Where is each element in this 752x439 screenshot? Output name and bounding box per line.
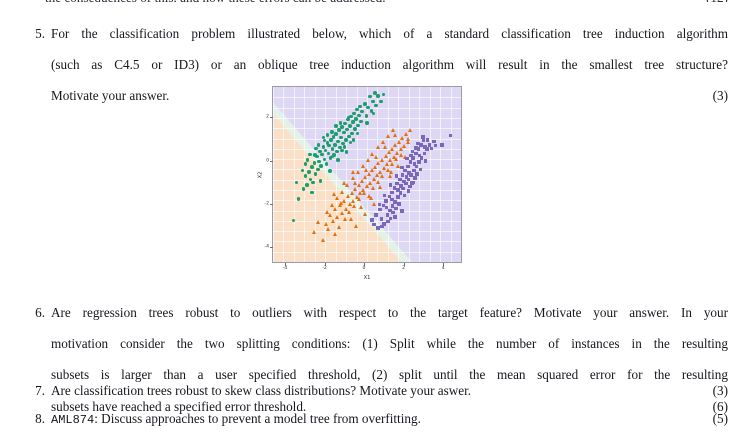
- y-tick-mark: [270, 247, 273, 248]
- data-point-class_a: [325, 162, 329, 166]
- data-point-class_c: [378, 208, 382, 212]
- data-point-class_b: [353, 181, 357, 185]
- data-point-class_c: [416, 142, 420, 146]
- question-8-marks: (5): [713, 411, 728, 427]
- y-tick-label: 2: [259, 115, 269, 120]
- data-point-class_c: [414, 146, 418, 150]
- data-point-class_c: [394, 207, 398, 211]
- data-point-class_c: [400, 209, 404, 213]
- data-point-class_c: [391, 211, 395, 215]
- data-point-class_b: [339, 201, 343, 205]
- y-tick-mark: [270, 204, 273, 205]
- data-point-class_c: [390, 198, 394, 202]
- data-point-class_c: [417, 160, 421, 164]
- data-point-class_c: [426, 138, 430, 142]
- data-point-class_c: [423, 152, 427, 156]
- data-point-class_c: [423, 145, 427, 149]
- gridline-horizontal: [273, 231, 461, 232]
- data-point-class_a: [352, 138, 356, 142]
- data-point-class_b: [354, 224, 358, 228]
- data-point-class_a: [340, 125, 344, 129]
- data-point-class_b: [394, 157, 398, 161]
- data-point-class_b: [368, 181, 372, 185]
- gridline-horizontal: [273, 97, 461, 98]
- gridline-vertical: [419, 87, 420, 262]
- data-point-class_b: [376, 180, 380, 184]
- data-point-class_b: [324, 222, 328, 226]
- data-point-class_b: [384, 154, 388, 158]
- data-point-class_b: [366, 158, 370, 162]
- data-point-class_a: [310, 165, 314, 169]
- data-point-class_a: [314, 172, 318, 176]
- gridline-horizontal: [273, 180, 461, 181]
- data-point-class_a: [311, 181, 315, 185]
- data-point-class_a: [354, 117, 358, 121]
- gridline-horizontal: [273, 211, 461, 212]
- x-tick-label: -4: [283, 266, 288, 271]
- question-8-number: 8.: [27, 411, 45, 427]
- data-point-class_b: [360, 179, 364, 183]
- gridline-vertical: [430, 87, 431, 262]
- gridline-horizontal: [273, 241, 461, 242]
- data-point-class_b: [400, 136, 404, 140]
- data-point-class_a: [304, 174, 308, 178]
- data-point-class_b: [376, 145, 380, 149]
- data-point-class_b: [328, 213, 332, 217]
- data-point-class_b: [393, 143, 397, 147]
- data-point-class_a: [306, 158, 310, 162]
- data-point-class_a: [330, 130, 334, 134]
- data-point-class_b: [383, 145, 387, 149]
- data-point-class_b: [333, 207, 337, 211]
- plot-area: [272, 86, 462, 263]
- data-point-class_b: [357, 197, 361, 201]
- data-point-class_c: [408, 185, 412, 189]
- data-point-class_a: [348, 124, 352, 128]
- data-point-class_b: [364, 168, 368, 172]
- question-8: 8. (5)AML874: Discuss approaches to prev…: [27, 411, 728, 429]
- data-point-class_c: [419, 168, 423, 172]
- data-point-class_b: [352, 204, 356, 208]
- data-point-class_a: [357, 114, 361, 118]
- data-point-class_c: [402, 180, 406, 184]
- question-5-marks: (3): [713, 88, 728, 104]
- gridline-horizontal: [273, 221, 461, 222]
- data-point-class_b: [365, 184, 369, 188]
- gridline-vertical: [294, 87, 295, 262]
- data-point-class_c: [396, 188, 400, 192]
- data-point-class_b: [340, 211, 344, 215]
- data-point-class_b: [380, 158, 384, 162]
- data-point-class_a: [356, 124, 360, 128]
- data-point-class_c: [384, 199, 388, 203]
- question-7-line-1-wrap: (3)Are classification trees robust to sk…: [51, 383, 728, 399]
- classification-scatter-figure: -4-202420-2-4 X1 X2: [250, 80, 475, 280]
- data-point-class_a: [317, 160, 321, 164]
- data-point-class_b: [370, 168, 374, 172]
- data-point-class_a: [314, 147, 318, 151]
- data-point-class_b: [374, 155, 378, 159]
- data-point-class_b: [393, 133, 397, 137]
- data-point-class_a: [319, 164, 323, 168]
- data-point-class_a: [316, 168, 320, 172]
- data-point-class_c: [389, 217, 393, 221]
- data-point-class_c: [407, 171, 411, 175]
- data-point-class_b: [397, 140, 401, 144]
- data-point-class_b: [385, 162, 389, 166]
- data-point-class_c: [374, 213, 378, 217]
- data-point-class_b: [387, 150, 391, 154]
- data-point-class_b: [330, 203, 334, 207]
- data-point-class_b: [345, 183, 349, 187]
- data-point-class_c: [418, 154, 422, 158]
- data-point-class_b: [331, 219, 335, 223]
- data-point-class_a: [379, 100, 383, 104]
- question-5-line-3: Motivate your answer.: [51, 88, 169, 103]
- gridline-horizontal: [273, 128, 461, 129]
- exam-page: (12) the consequences of this, and how t…: [0, 0, 752, 439]
- data-point-class_b: [402, 144, 406, 148]
- question-8-line-1-wrap: (5)AML874: Discuss approaches to prevent…: [51, 411, 728, 429]
- data-point-class_a: [336, 140, 340, 144]
- question-8-line-1: : Discuss approaches to prevent a model …: [94, 411, 421, 426]
- data-point-class_a: [317, 143, 321, 147]
- data-point-class_b: [353, 187, 357, 191]
- data-point-class_a: [359, 120, 363, 124]
- data-point-class_a: [345, 150, 349, 154]
- question-5-line-1: For the classification problem illustrat…: [51, 26, 728, 57]
- data-point-class_b: [351, 170, 355, 174]
- data-point-class_b: [342, 181, 346, 185]
- gridline-horizontal: [273, 252, 461, 253]
- data-point-class_c: [380, 217, 384, 221]
- data-point-class_c: [399, 184, 403, 188]
- data-point-class_a: [308, 153, 312, 157]
- data-point-class_c: [385, 206, 389, 210]
- question-7: 7. (3)Are classification trees robust to…: [27, 383, 728, 399]
- data-point-class_a: [334, 124, 338, 128]
- y-axis-label: X2: [257, 172, 263, 179]
- data-point-class_a: [333, 143, 337, 147]
- question-6-number: 6.: [27, 305, 45, 321]
- gridline-vertical: [398, 87, 399, 262]
- data-point-class_b: [342, 199, 346, 203]
- data-point-class_b: [389, 170, 393, 174]
- data-point-class_a: [374, 104, 378, 108]
- data-point-class_b: [381, 140, 385, 144]
- data-point-class_c: [403, 194, 407, 198]
- x-tick-label: -2: [322, 266, 327, 271]
- data-point-class_a: [331, 147, 335, 151]
- gridline-horizontal: [273, 118, 461, 119]
- data-point-class_b: [340, 190, 344, 194]
- cut-off-text: the consequences of this, and how these …: [45, 0, 386, 2]
- y-tick-label: 0: [259, 158, 269, 163]
- question-7-line-1: Are classification trees robust to skew …: [51, 383, 471, 398]
- data-point-class_b: [362, 191, 366, 195]
- data-point-class_c: [409, 154, 413, 158]
- data-point-class_b: [346, 194, 350, 198]
- data-point-class_a: [305, 183, 309, 187]
- gridline-vertical: [440, 87, 441, 262]
- data-point-class_c: [390, 191, 394, 195]
- data-point-class_c: [411, 181, 415, 185]
- question-5-number: 5.: [27, 26, 45, 42]
- data-point-class_a: [319, 179, 323, 183]
- data-point-class_b: [359, 205, 363, 209]
- x-axis-label: X1: [364, 275, 371, 281]
- data-point-class_b: [335, 215, 339, 219]
- gridline-horizontal: [273, 200, 461, 201]
- data-point-class_c: [393, 215, 397, 219]
- data-point-class_c: [380, 225, 384, 229]
- question-8-course-code: AML874: [51, 413, 94, 427]
- data-point-class_b: [391, 128, 395, 132]
- data-point-class_b: [349, 217, 353, 221]
- data-point-class_b: [321, 238, 325, 242]
- data-point-class_c: [411, 150, 415, 154]
- data-point-class_b: [326, 227, 330, 231]
- gridline-vertical: [451, 87, 452, 262]
- data-point-class_b: [357, 183, 361, 187]
- gridline-vertical: [346, 87, 347, 262]
- gridline-vertical: [283, 87, 284, 262]
- gridline-vertical: [273, 87, 274, 262]
- gridline-horizontal: [273, 262, 461, 263]
- data-point-class_a: [328, 169, 332, 173]
- data-point-class_b: [390, 147, 394, 151]
- data-point-class_b: [351, 176, 355, 180]
- data-point-class_a: [343, 145, 347, 149]
- data-point-class_b: [372, 202, 376, 206]
- data-point-class_c: [397, 202, 401, 206]
- data-point-class_b: [347, 210, 351, 214]
- cut-off-previous-question-line: (12) the consequences of this, and how t…: [45, 0, 728, 2]
- data-point-class_c: [400, 166, 404, 170]
- data-point-class_a: [350, 132, 354, 136]
- data-point-class_a: [353, 127, 357, 131]
- data-point-class_a: [334, 132, 338, 136]
- data-point-class_b: [390, 162, 394, 166]
- data-point-class_a: [337, 128, 341, 132]
- data-point-class_c: [413, 162, 417, 166]
- data-point-class_b: [388, 174, 392, 178]
- data-point-class_c: [370, 218, 374, 222]
- data-point-class_b: [378, 185, 382, 189]
- data-point-class_b: [363, 212, 367, 216]
- data-point-class_a: [365, 114, 369, 118]
- data-point-class_a: [344, 138, 348, 142]
- gridline-vertical: [461, 87, 462, 262]
- question-6-line-2: motivation consider the two splitting co…: [51, 336, 728, 367]
- data-point-class_b: [337, 225, 341, 229]
- data-point-class_a: [352, 112, 356, 116]
- x-tick-label: 2: [402, 266, 405, 271]
- data-point-class_b: [367, 172, 371, 176]
- data-point-class_c: [407, 189, 411, 193]
- cut-off-marks: (12): [706, 0, 728, 2]
- data-point-class_c: [378, 203, 382, 207]
- data-point-class_a: [371, 100, 375, 104]
- data-point-class_a: [365, 121, 369, 125]
- data-point-class_b: [356, 170, 360, 174]
- data-point-class_b: [386, 134, 390, 138]
- data-point-class_c: [434, 144, 438, 148]
- data-point-class_b: [373, 165, 377, 169]
- question-8-body: (5)AML874: Discuss approaches to prevent…: [45, 411, 728, 429]
- data-point-class_b: [350, 191, 354, 195]
- data-point-class_b: [376, 161, 380, 165]
- data-point-class_b: [316, 220, 320, 224]
- data-point-class_a: [313, 153, 317, 157]
- data-point-class_a: [340, 149, 344, 153]
- question-7-body: (3)Are classification trees robust to sk…: [45, 383, 728, 399]
- data-point-class_b: [312, 230, 316, 234]
- data-point-class_b: [380, 174, 384, 178]
- data-point-class_c: [383, 194, 387, 198]
- x-tick-label: 0: [363, 266, 366, 271]
- data-point-class_b: [343, 217, 347, 221]
- data-point-class_a: [368, 95, 372, 99]
- data-point-class_a: [313, 161, 317, 165]
- data-point-class_c: [405, 175, 409, 179]
- data-point-class_c: [432, 140, 436, 144]
- data-point-class_b: [399, 147, 403, 151]
- data-point-class_a: [326, 133, 330, 137]
- question-7-number: 7.: [27, 383, 45, 399]
- gridline-vertical: [325, 87, 326, 262]
- data-point-class_b: [332, 192, 336, 196]
- data-point-class_b: [325, 210, 329, 214]
- data-point-class_c: [421, 135, 425, 139]
- data-point-class_a: [307, 170, 311, 174]
- data-point-class_b: [406, 137, 410, 141]
- data-point-class_c: [449, 134, 453, 138]
- data-point-class_b: [369, 196, 373, 200]
- x-tick-label: 4: [442, 266, 445, 271]
- data-point-class_a: [320, 153, 324, 157]
- y-tick-label: -2: [259, 201, 269, 206]
- data-point-class_b: [371, 186, 375, 190]
- data-point-class_a: [376, 94, 380, 98]
- question-6-line-1: Are regression trees robust to outliers …: [51, 305, 728, 336]
- data-point-class_b: [335, 196, 339, 200]
- data-point-class_c: [424, 159, 428, 163]
- data-point-class_c: [406, 165, 410, 169]
- data-point-class_a: [358, 105, 362, 109]
- y-tick-label: -4: [259, 244, 269, 249]
- data-point-class_b: [406, 140, 410, 144]
- data-point-class_c: [440, 143, 444, 147]
- data-point-class_c: [396, 195, 400, 199]
- data-point-class_b: [333, 232, 337, 236]
- data-point-class_b: [408, 128, 412, 132]
- data-point-class_a: [366, 106, 370, 110]
- data-point-class_c: [413, 176, 417, 180]
- question-7-marks: (3): [713, 383, 728, 399]
- data-point-class_a: [336, 158, 340, 162]
- y-tick-mark: [270, 117, 273, 118]
- data-point-class_c: [389, 183, 393, 187]
- data-point-class_c: [395, 174, 399, 178]
- data-point-class_c: [415, 172, 419, 176]
- data-point-class_a: [310, 191, 314, 195]
- y-tick-mark: [270, 161, 273, 162]
